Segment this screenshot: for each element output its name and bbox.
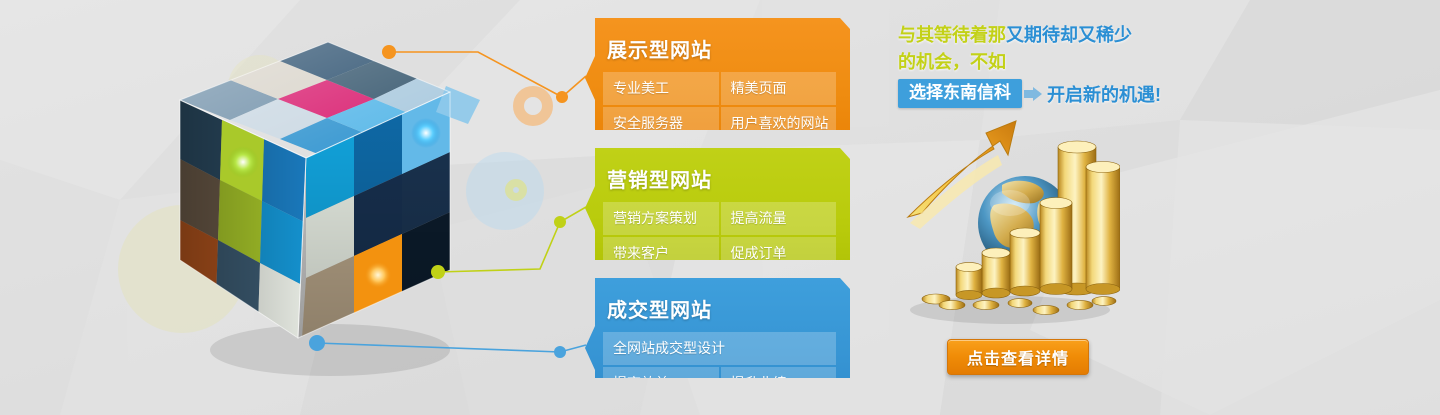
panel-display-title: 展示型网站 [607, 34, 836, 63]
headline-closing: 开启新的机遇! [1047, 81, 1161, 107]
cta-view-details-button[interactable]: 点击查看详情 [947, 339, 1089, 375]
promo-banner: 展示型网站 专业美工 精美页面 安全服务器 用户喜欢的网站 营销型网站 营销方案… [0, 0, 1440, 415]
photo-mosaic-cube-icon [150, 20, 570, 400]
panel-marketing-cell-1[interactable]: 营销方案策划 [603, 202, 719, 235]
headline-block: 与其等待着那又期待却又稀少 的机会，不如 选择东南信科 开启新的机遇! [898, 22, 1198, 108]
headline-line-1: 与其等待着那又期待却又稀少 [898, 22, 1198, 49]
brand-tag[interactable]: 选择东南信科 [898, 79, 1022, 108]
panel-display-cell-1[interactable]: 专业美工 [603, 72, 719, 105]
panel-deal-title: 成交型网站 [607, 294, 836, 323]
panel-marketing-cell-2[interactable]: 提高流量 [721, 202, 837, 235]
panel-marketing-cells: 营销方案策划 提高流量 带来客户 促成订单 [603, 202, 836, 270]
globe-coins-growth-arrow-icon [890, 105, 1120, 330]
right-column: 与其等待着那又期待却又稀少 的机会，不如 选择东南信科 开启新的机遇! [880, 0, 1440, 415]
panel-display-cell-2[interactable]: 精美页面 [721, 72, 837, 105]
headline-tag-row: 选择东南信科 开启新的机遇! [898, 79, 1198, 108]
headline-line1-green: 与其等待着那 [898, 25, 1006, 45]
photo-mosaic-cube [150, 20, 570, 400]
arrow-right-icon [1024, 87, 1042, 101]
headline-line-2: 的机会，不如 [898, 49, 1198, 76]
panel-marketing-title: 营销型网站 [607, 164, 836, 193]
headline-line1-blue: 又期待却又稀少 [1006, 25, 1132, 45]
panel-deal-cell-1[interactable]: 全网站成交型设计 [603, 332, 836, 365]
cta-label: 点击查看详情 [967, 345, 1069, 369]
panel-display-cells: 专业美工 精美页面 安全服务器 用户喜欢的网站 [603, 72, 836, 140]
